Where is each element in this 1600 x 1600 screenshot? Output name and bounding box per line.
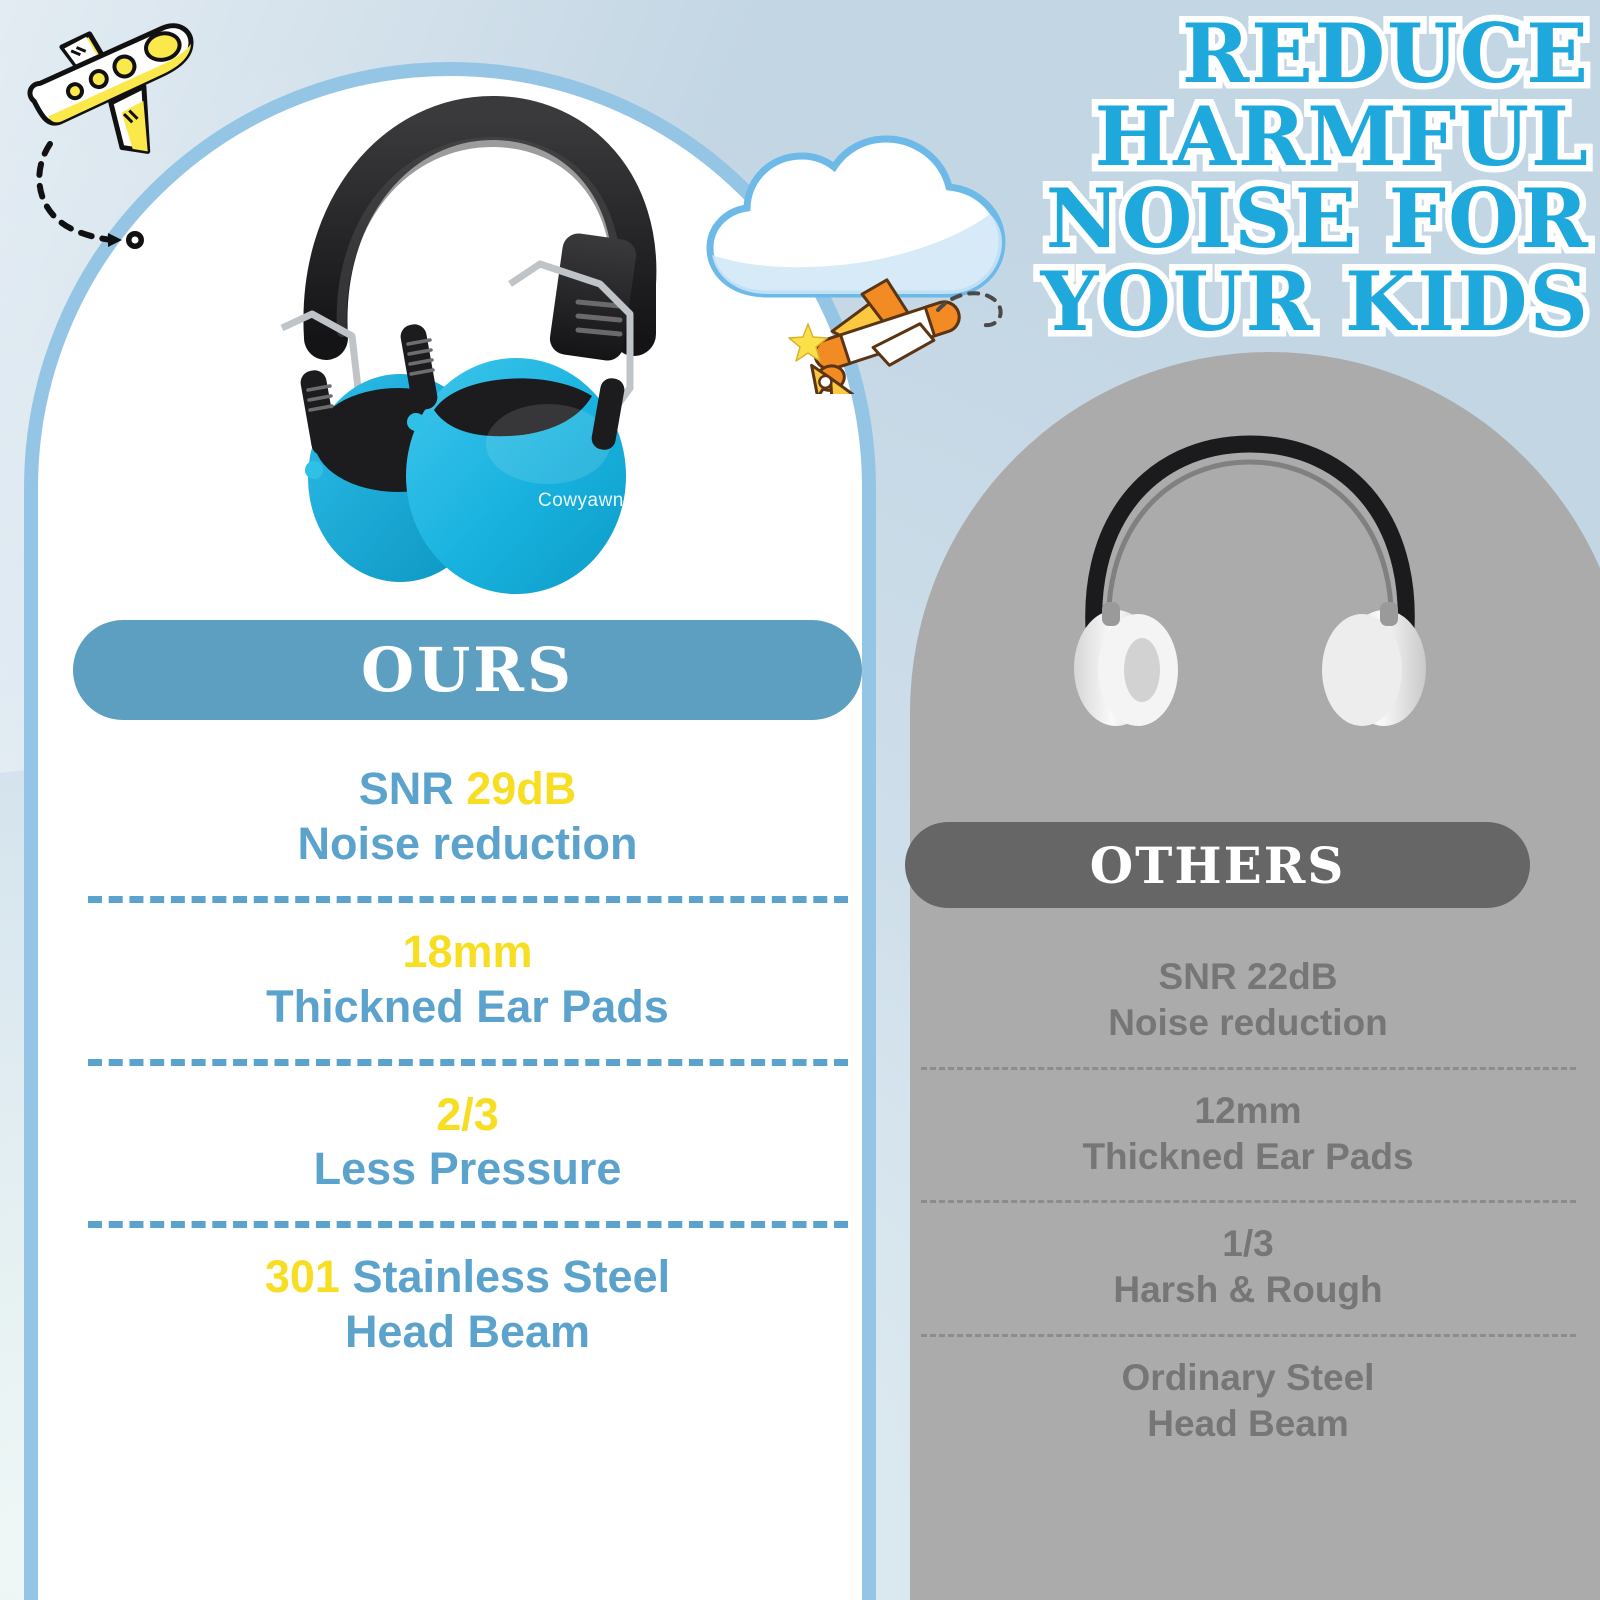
others-row-pads-label: Thickned Ear Pads: [898, 1134, 1598, 1180]
others-row-snr-value: SNR 22dB: [898, 954, 1598, 1000]
ours-product-image: Cowyawn: [248, 88, 708, 596]
ours-row-steel-label: Head Beam: [73, 1305, 862, 1360]
ours-divider-2: [88, 1059, 848, 1066]
others-title: OTHERS: [1090, 836, 1346, 895]
others-row-snr: SNR 22dB Noise reduction: [898, 928, 1598, 1067]
ours-row-pressure-label: Less Pressure: [73, 1142, 862, 1197]
others-row-pads: 12mm Thickned Ear Pads: [898, 1070, 1598, 1201]
others-row-pressure: 1/3 Harsh & Rough: [898, 1203, 1598, 1334]
ours-row-snr-label: Noise reduction: [73, 817, 862, 872]
ours-row-snr-highlight: 29dB: [466, 763, 576, 814]
others-row-pads-value: 12mm: [898, 1088, 1598, 1134]
ours-row-snr: SNR 29dB Noise reduction: [73, 736, 862, 896]
others-row-steel-label: Head Beam: [898, 1401, 1598, 1447]
headline-line-2: NOISE FOR: [690, 179, 1590, 262]
others-spec-list: SNR 22dB Noise reduction 12mm Thickned E…: [898, 928, 1598, 1467]
ours-row-pads-highlight: 18mm: [402, 926, 532, 977]
ours-title: OURS: [361, 635, 574, 706]
headline-line-1: REDUCE HARMFUL: [690, 14, 1590, 179]
product-brand-label: Cowyawn: [538, 490, 624, 511]
ours-row-steel-highlight: 301: [265, 1251, 340, 1302]
ours-divider-3: [88, 1221, 848, 1228]
others-row-snr-label: Noise reduction: [898, 1000, 1598, 1046]
ours-row-pads-label: Thickned Ear Pads: [73, 980, 862, 1035]
ours-row-steel: 301 Stainless Steel Head Beam: [73, 1228, 862, 1384]
star-icon: [788, 322, 828, 362]
ours-divider-1: [88, 896, 848, 903]
ours-row-pressure: 2/3 Less Pressure: [73, 1066, 862, 1222]
ours-row-pressure-value: 2/3: [73, 1088, 862, 1143]
infographic-canvas: REDUCE HARMFUL NOISE FOR YOUR KIDS: [0, 0, 1600, 1600]
ours-row-snr-value: SNR 29dB: [73, 762, 862, 817]
ours-row-pads: 18mm Thickned Ear Pads: [73, 903, 862, 1059]
others-row-pressure-label: Harsh & Rough: [898, 1267, 1598, 1313]
ours-spec-list: SNR 29dB Noise reduction 18mm Thickned E…: [73, 736, 862, 1384]
others-product-image: [1040, 416, 1460, 736]
others-row-steel-value: Ordinary Steel: [898, 1355, 1598, 1401]
airplane-icon: [8, 6, 238, 256]
ours-row-steel-suffix: Stainless Steel: [340, 1251, 670, 1302]
ours-row-pads-value: 18mm: [73, 925, 862, 980]
others-row-pressure-value: 1/3: [898, 1221, 1598, 1267]
ours-header-badge: OURS: [73, 620, 862, 720]
ours-row-pressure-highlight: 2/3: [436, 1089, 499, 1140]
others-row-steel: Ordinary Steel Head Beam: [898, 1337, 1598, 1468]
ours-row-steel-value: 301 Stainless Steel: [73, 1250, 862, 1305]
others-header-badge: OTHERS: [905, 822, 1530, 908]
